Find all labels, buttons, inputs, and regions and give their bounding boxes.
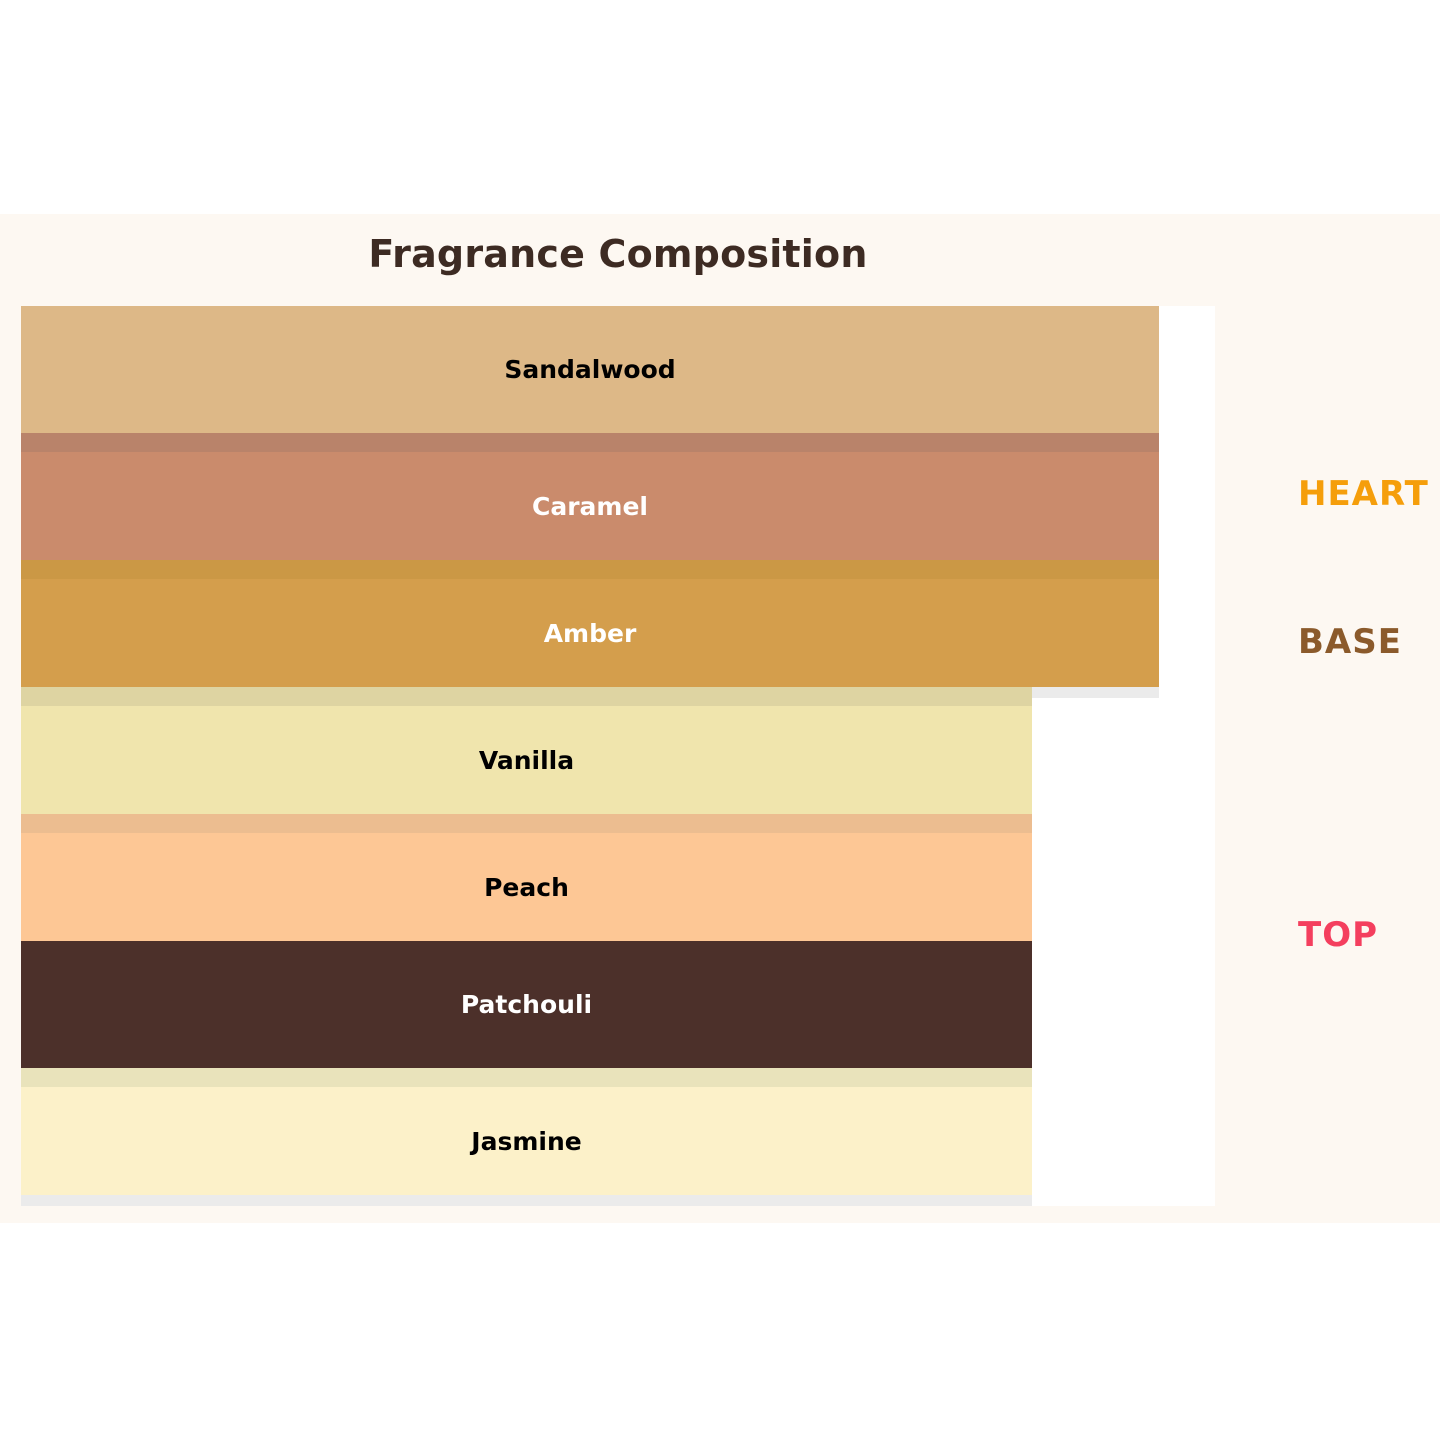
bar-label-caramel: Caramel	[532, 492, 648, 521]
bar-patchouli[interactable]: Patchouli	[21, 941, 1032, 1068]
bar-sandalwood[interactable]: Sandalwood	[21, 306, 1159, 433]
bar-label-sandalwood: Sandalwood	[504, 355, 675, 384]
bar-amber[interactable]: Amber	[21, 579, 1159, 687]
bar-overlap-seam	[21, 814, 1032, 833]
category-label-heart: HEART	[1298, 474, 1429, 514]
bar-caramel[interactable]: Caramel	[21, 452, 1159, 560]
chart-canvas: Fragrance Composition Sandalwood Caramel…	[0, 0, 1440, 1440]
page-title: Fragrance Composition	[0, 232, 1236, 276]
plot-area: Sandalwood Caramel Amber Vanilla Peach P…	[21, 306, 1215, 1206]
bar-overlap-seam	[21, 560, 1159, 579]
bar-vanilla[interactable]: Vanilla	[21, 706, 1032, 814]
bar-label-vanilla: Vanilla	[479, 746, 574, 775]
bar-jasmine[interactable]: Jasmine	[21, 1087, 1032, 1195]
bar-label-patchouli: Patchouli	[461, 990, 592, 1019]
category-label-top: TOP	[1298, 915, 1378, 955]
bar-label-jasmine: Jasmine	[471, 1127, 581, 1156]
bar-label-amber: Amber	[544, 619, 637, 648]
category-label-base: BASE	[1298, 622, 1402, 662]
bar-overlap-seam	[21, 1068, 1032, 1087]
bar-overlap-seam	[21, 687, 1032, 706]
bar-peach[interactable]: Peach	[21, 833, 1032, 941]
bar-overlap-seam	[21, 433, 1159, 452]
bar-label-peach: Peach	[484, 873, 569, 902]
